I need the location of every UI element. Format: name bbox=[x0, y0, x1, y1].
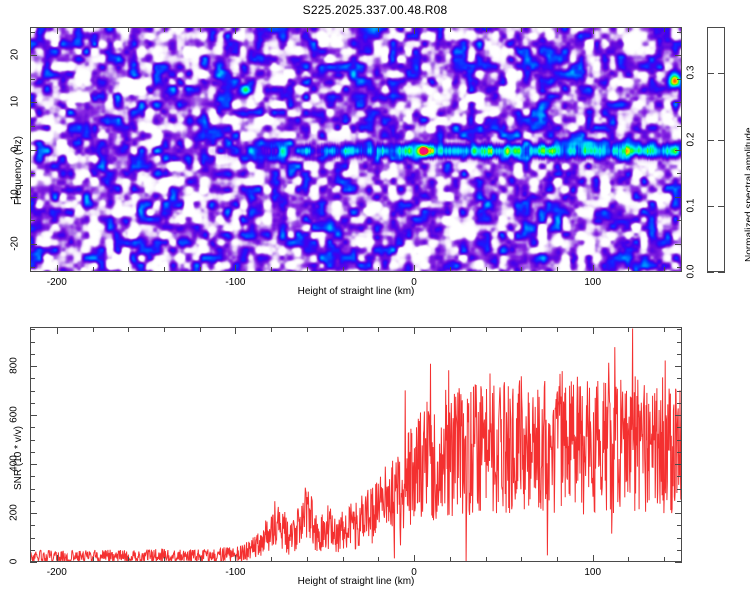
spectrogram-xticklabel: 0 bbox=[396, 277, 432, 288]
spectrogram-ytick bbox=[30, 55, 37, 56]
spectrogram-xtick-top bbox=[450, 27, 451, 32]
snr-xticklabel: 0 bbox=[396, 567, 432, 578]
snr-xtick bbox=[307, 557, 308, 562]
snr-ytick bbox=[30, 391, 35, 392]
snr-ytick-right bbox=[677, 391, 682, 392]
snr-ytick-right bbox=[675, 513, 682, 514]
colorbar-ticklabel: 0.1 bbox=[686, 193, 697, 217]
snr-ytick bbox=[30, 440, 35, 441]
spectrogram-xtick bbox=[57, 265, 58, 272]
spectrogram-yticklabel: 10 bbox=[10, 91, 21, 113]
spectrogram-xtick bbox=[271, 267, 272, 272]
snr-xticklabel: -200 bbox=[39, 567, 75, 578]
snr-ytick bbox=[30, 513, 37, 514]
spectrogram-ytick-right bbox=[677, 32, 682, 33]
snr-xtick bbox=[557, 557, 558, 562]
snr-xtick bbox=[235, 555, 236, 562]
snr-ytick-right bbox=[677, 403, 682, 404]
spectrogram-ytick bbox=[30, 79, 35, 80]
snr-ytick bbox=[30, 562, 37, 563]
snr-xtick bbox=[128, 557, 129, 562]
snr-ytick-right bbox=[677, 476, 682, 477]
spectrogram-xtick bbox=[557, 267, 558, 272]
spectrogram-xtick bbox=[235, 265, 236, 272]
figure-title: S225.2025.337.00.48.R08 bbox=[0, 3, 750, 17]
spectrogram-xtick-top bbox=[378, 27, 379, 32]
snr-ytick bbox=[30, 489, 35, 490]
snr-xtick bbox=[450, 557, 451, 562]
snr-yticklabel: 800 bbox=[9, 354, 20, 378]
snr-ytick bbox=[30, 415, 37, 416]
spectrogram-xtick-top bbox=[521, 27, 522, 32]
spectrogram-ytick bbox=[30, 267, 35, 268]
spectrogram-xticklabel: -200 bbox=[39, 277, 75, 288]
spectrogram-xtick-top bbox=[271, 27, 272, 32]
spectrogram-yticklabel: -20 bbox=[10, 232, 21, 254]
spectrogram-ytick bbox=[30, 126, 35, 127]
snr-ytick-right bbox=[675, 415, 682, 416]
snr-xtick bbox=[593, 555, 594, 562]
colorbar-ticklabel: 0.0 bbox=[686, 260, 697, 284]
spectrogram-xtick bbox=[414, 265, 415, 272]
spectrogram-image bbox=[31, 28, 682, 272]
spectrogram-ytick-right bbox=[675, 244, 682, 245]
colorbar-tick bbox=[707, 272, 714, 273]
spectrogram-yticklabel: 20 bbox=[10, 44, 21, 66]
snr-ytick bbox=[30, 538, 35, 539]
spectrogram-xtick-top bbox=[164, 27, 165, 32]
spectrogram-ytick bbox=[30, 102, 37, 103]
snr-xtick-top bbox=[164, 327, 165, 332]
snr-xtick bbox=[93, 557, 94, 562]
snr-xtick bbox=[628, 557, 629, 562]
snr-ytick bbox=[30, 366, 37, 367]
spectrogram-xtick bbox=[307, 267, 308, 272]
spectrogram-xtick-top bbox=[200, 27, 201, 32]
colorbar-tick bbox=[707, 73, 714, 74]
spectrogram-ytick-right bbox=[677, 79, 682, 80]
spectrogram-xtick bbox=[378, 267, 379, 272]
snr-ytick bbox=[30, 501, 35, 502]
spectrogram-xtick-top bbox=[628, 27, 629, 32]
snr-xtick bbox=[486, 557, 487, 562]
snr-ytick bbox=[30, 427, 35, 428]
snr-yticklabel: 0 bbox=[9, 550, 20, 574]
snr-xtick bbox=[414, 555, 415, 562]
snr-xtick-top bbox=[378, 327, 379, 332]
snr-ytick bbox=[30, 403, 35, 404]
snr-ytick bbox=[30, 476, 35, 477]
snr-xtick-top bbox=[200, 327, 201, 332]
colorbar-ticklabel: 0.3 bbox=[686, 61, 697, 85]
snr-xtick-top bbox=[343, 327, 344, 332]
spectrogram-ytick bbox=[30, 220, 35, 221]
spectrogram-ytick bbox=[30, 32, 35, 33]
spectrogram-xtick bbox=[593, 265, 594, 272]
snr-ytick bbox=[30, 342, 35, 343]
spectrogram-plot-area bbox=[30, 27, 682, 272]
snr-xtick-top bbox=[93, 327, 94, 332]
colorbar-tick-right bbox=[718, 272, 725, 273]
snr-xtick-top bbox=[628, 327, 629, 332]
spectrogram-ytick bbox=[30, 197, 37, 198]
snr-yticklabel: 600 bbox=[9, 403, 20, 427]
spectrogram-ytick bbox=[30, 244, 37, 245]
snr-xtick-top bbox=[664, 327, 665, 332]
spectrogram-xtick bbox=[486, 267, 487, 272]
spectrogram-ytick-right bbox=[677, 220, 682, 221]
snr-ytick bbox=[30, 525, 35, 526]
snr-ytick-right bbox=[677, 427, 682, 428]
snr-ytick-right bbox=[677, 378, 682, 379]
snr-xtick bbox=[271, 557, 272, 562]
snr-xticklabel: -100 bbox=[217, 567, 253, 578]
spectrogram-xticklabel: -100 bbox=[217, 277, 253, 288]
spectrogram-xtick-top bbox=[93, 27, 94, 32]
spectrogram-xtick-top bbox=[307, 27, 308, 32]
spectrogram-xtick bbox=[93, 267, 94, 272]
spectrogram-xtick-top bbox=[557, 27, 558, 32]
snr-xtick-top bbox=[128, 327, 129, 332]
spectrogram-ytick-right bbox=[677, 173, 682, 174]
snr-ytick-right bbox=[677, 452, 682, 453]
spectrogram-ytick-right bbox=[675, 150, 682, 151]
spectrogram-xticklabel: 100 bbox=[575, 277, 611, 288]
spectrogram-xtick-top bbox=[593, 27, 594, 34]
snr-ytick-right bbox=[675, 562, 682, 563]
snr-ytick bbox=[30, 452, 35, 453]
spectrogram-xtick-top bbox=[128, 27, 129, 32]
spectrogram-ytick-right bbox=[675, 102, 682, 103]
snr-xtick bbox=[200, 557, 201, 562]
spectrogram-ytick-right bbox=[677, 267, 682, 268]
snr-ytick-right bbox=[677, 550, 682, 551]
spectrogram-xtick-top bbox=[414, 27, 415, 34]
snr-ytick-right bbox=[677, 329, 682, 330]
colorbar-gradient bbox=[708, 28, 724, 271]
snr-xtick-top bbox=[557, 327, 558, 332]
snr-xtick-top bbox=[521, 327, 522, 332]
spectrogram-xtick-top bbox=[343, 27, 344, 32]
spectrogram-ytick-right bbox=[677, 126, 682, 127]
snr-xtick-top bbox=[414, 327, 415, 334]
snr-yticklabel: 200 bbox=[9, 501, 20, 525]
snr-xtick-top bbox=[486, 327, 487, 332]
colorbar-tick-right bbox=[718, 140, 725, 141]
snr-ytick-right bbox=[677, 538, 682, 539]
colorbar-label: Normalized spectral amplitude bbox=[744, 127, 750, 262]
spectrogram-xtick bbox=[521, 267, 522, 272]
snr-ytick-right bbox=[677, 489, 682, 490]
snr-xtick bbox=[343, 557, 344, 562]
snr-xtick bbox=[164, 557, 165, 562]
snr-ytick-right bbox=[677, 342, 682, 343]
snr-ytick bbox=[30, 329, 35, 330]
snr-ytick-right bbox=[677, 501, 682, 502]
snr-xtick bbox=[521, 557, 522, 562]
colorbar-ticklabel: 0.2 bbox=[686, 127, 697, 151]
snr-plot-area bbox=[30, 327, 682, 562]
snr-xtick-top bbox=[271, 327, 272, 332]
snr-ytick bbox=[30, 550, 35, 551]
spectrogram-xtick bbox=[664, 267, 665, 272]
spectrogram-yticklabel: -10 bbox=[10, 185, 21, 207]
snr-ytick bbox=[30, 354, 35, 355]
colorbar-tick bbox=[707, 206, 714, 207]
snr-line-chart bbox=[31, 328, 682, 562]
snr-xtick bbox=[378, 557, 379, 562]
snr-ytick bbox=[30, 378, 35, 379]
snr-xticklabel: 100 bbox=[575, 567, 611, 578]
spectrogram-xtick-top bbox=[486, 27, 487, 32]
spectrogram-xtick bbox=[343, 267, 344, 272]
figure-canvas: S225.2025.337.00.48.R08 Frequency (Hz) H… bbox=[0, 0, 750, 600]
colorbar-tick-right bbox=[718, 73, 725, 74]
snr-xtick-top bbox=[450, 327, 451, 332]
spectrogram-xtick-top bbox=[235, 27, 236, 34]
spectrogram-ytick bbox=[30, 150, 37, 151]
spectrogram-xtick-top bbox=[664, 27, 665, 32]
spectrogram-xtick-top bbox=[57, 27, 58, 34]
snr-xtick-top bbox=[593, 327, 594, 334]
spectrogram-xtick bbox=[128, 267, 129, 272]
spectrogram-xtick bbox=[200, 267, 201, 272]
snr-xtick-top bbox=[57, 327, 58, 334]
snr-ytick-right bbox=[677, 354, 682, 355]
spectrogram-xtick bbox=[628, 267, 629, 272]
snr-xtick-top bbox=[235, 327, 236, 334]
snr-ytick bbox=[30, 464, 37, 465]
spectrogram-ytick bbox=[30, 173, 35, 174]
spectrogram-ytick-right bbox=[675, 55, 682, 56]
snr-ytick-right bbox=[675, 464, 682, 465]
snr-ytick-right bbox=[675, 366, 682, 367]
snr-yticklabel: 400 bbox=[9, 452, 20, 476]
snr-ytick-right bbox=[677, 525, 682, 526]
snr-ytick-right bbox=[677, 440, 682, 441]
snr-trace bbox=[31, 329, 682, 563]
spectrogram-xtick bbox=[164, 267, 165, 272]
spectrogram-ytick-right bbox=[675, 197, 682, 198]
snr-xtick bbox=[664, 557, 665, 562]
colorbar bbox=[707, 27, 725, 272]
spectrogram-xtick bbox=[450, 267, 451, 272]
spectrogram-yticklabel: 0 bbox=[10, 138, 21, 160]
snr-xtick bbox=[57, 555, 58, 562]
snr-xtick-top bbox=[307, 327, 308, 332]
colorbar-tick bbox=[707, 140, 714, 141]
colorbar-tick-right bbox=[718, 206, 725, 207]
